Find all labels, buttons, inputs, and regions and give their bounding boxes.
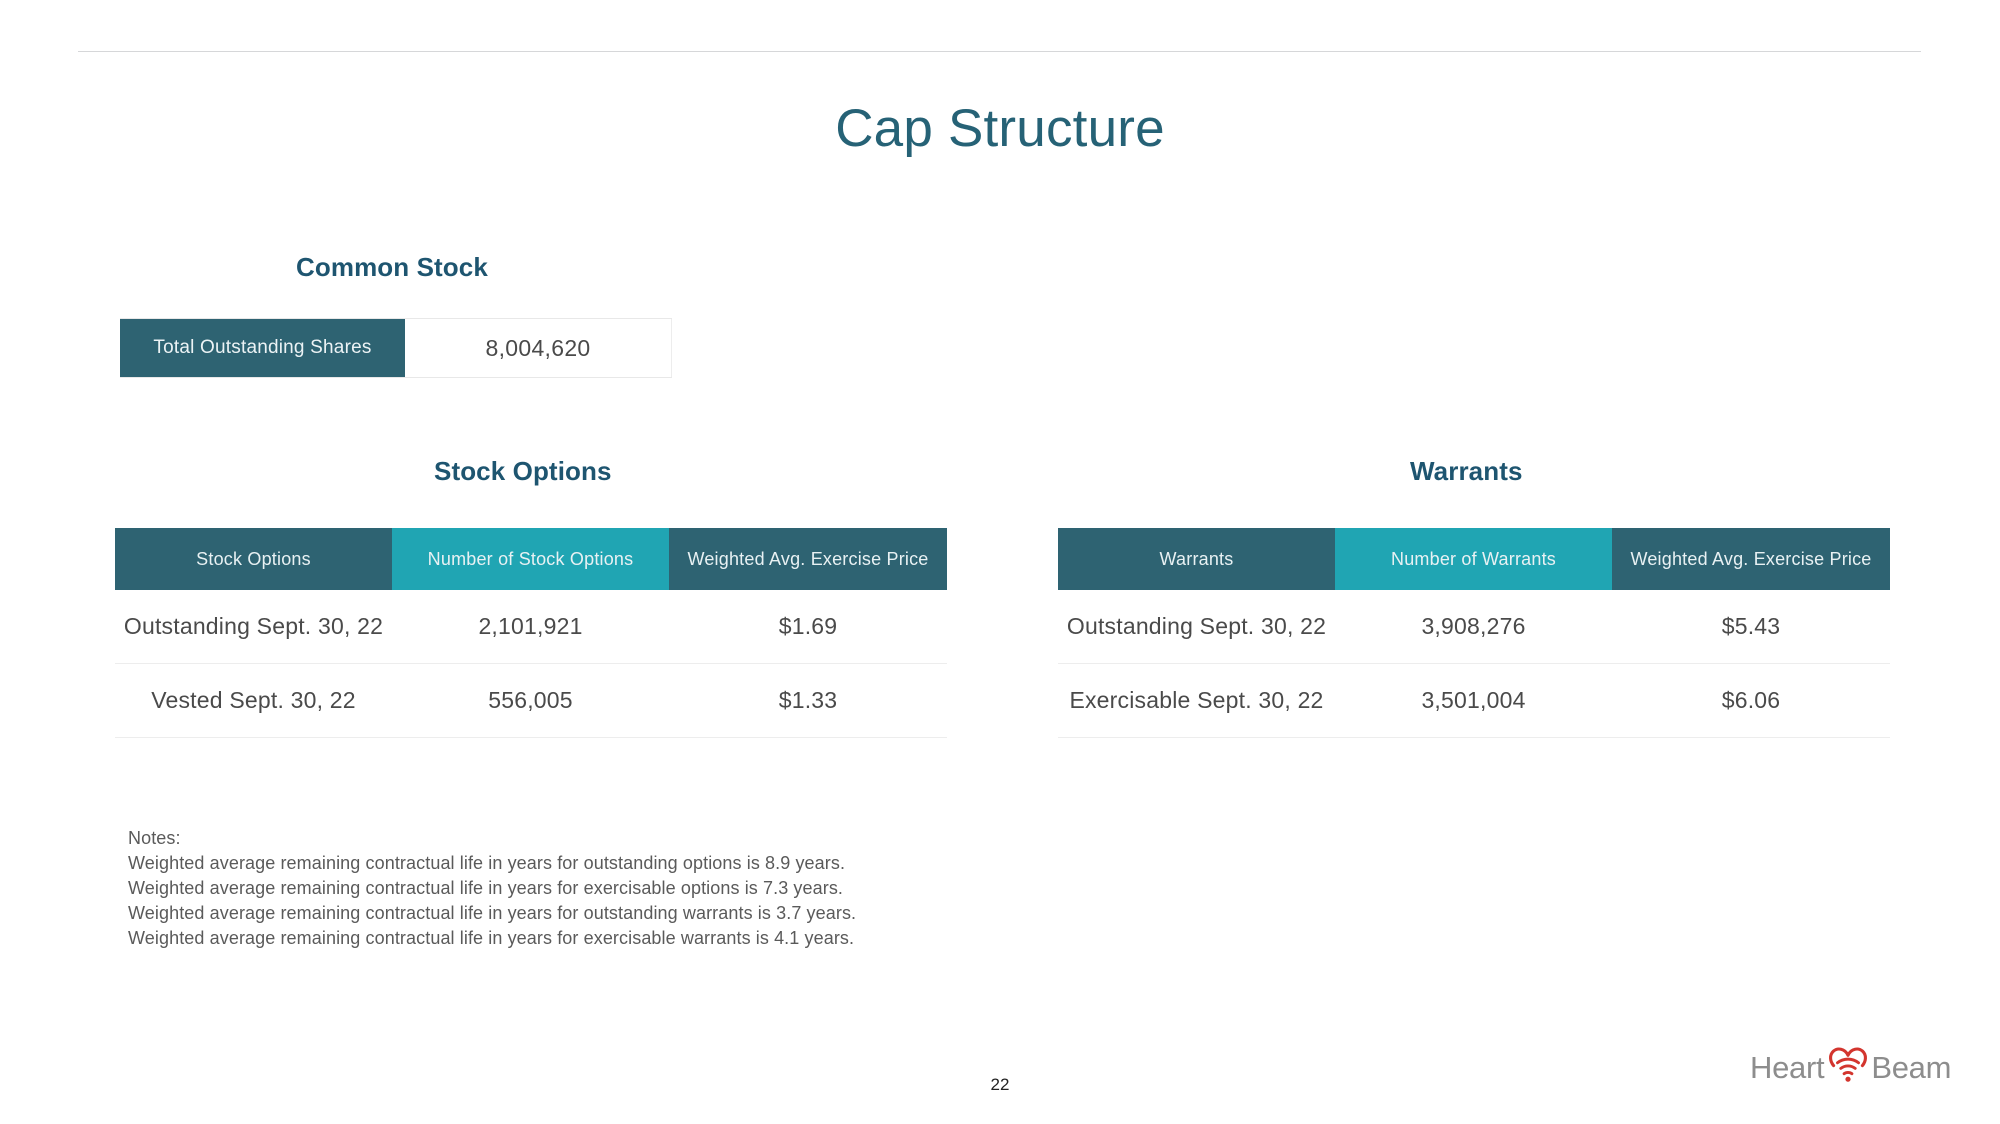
stock-options-table: Stock Options Number of Stock Options We… xyxy=(115,528,947,738)
row-number: 2,101,921 xyxy=(392,590,669,663)
column-header-number-of-warrants: Number of Warrants xyxy=(1335,528,1612,590)
section-heading-warrants: Warrants xyxy=(1410,456,1523,487)
row-label: Vested Sept. 30, 22 xyxy=(115,664,392,737)
row-label: Outstanding Sept. 30, 22 xyxy=(115,590,392,663)
table-header-row: Stock Options Number of Stock Options We… xyxy=(115,528,947,590)
common-stock-table: Total Outstanding Shares 8,004,620 xyxy=(120,318,672,378)
row-label: Exercisable Sept. 30, 22 xyxy=(1058,664,1335,737)
common-stock-value: 8,004,620 xyxy=(405,319,672,377)
warrants-table: Warrants Number of Warrants Weighted Avg… xyxy=(1058,528,1890,738)
table-row: Outstanding Sept. 30, 22 3,908,276 $5.43 xyxy=(1058,590,1890,664)
section-heading-common-stock: Common Stock xyxy=(296,252,488,283)
note-line: Weighted average remaining contractual l… xyxy=(128,901,856,926)
header-divider xyxy=(78,51,1921,52)
column-header-stock-options: Stock Options xyxy=(115,528,392,590)
row-price: $1.69 xyxy=(669,590,947,663)
section-heading-stock-options: Stock Options xyxy=(434,456,612,487)
row-number: 3,501,004 xyxy=(1335,664,1612,737)
column-header-weighted-avg-exercise-price: Weighted Avg. Exercise Price xyxy=(1612,528,1890,590)
table-row: Exercisable Sept. 30, 22 3,501,004 $6.06 xyxy=(1058,664,1890,738)
table-row: Vested Sept. 30, 22 556,005 $1.33 xyxy=(115,664,947,738)
notes-title: Notes: xyxy=(128,826,856,851)
note-line: Weighted average remaining contractual l… xyxy=(128,876,856,901)
column-header-weighted-avg-exercise-price: Weighted Avg. Exercise Price xyxy=(669,528,947,590)
heartbeam-logo: Heart Beam xyxy=(1750,1046,1951,1090)
logo-word-beam: Beam xyxy=(1871,1050,1951,1086)
logo-word-heart: Heart xyxy=(1750,1050,1824,1086)
column-header-warrants: Warrants xyxy=(1058,528,1335,590)
note-line: Weighted average remaining contractual l… xyxy=(128,926,856,951)
table-header-row: Warrants Number of Warrants Weighted Avg… xyxy=(1058,528,1890,590)
column-header-number-of-stock-options: Number of Stock Options xyxy=(392,528,669,590)
notes-block: Notes: Weighted average remaining contra… xyxy=(128,826,856,951)
page-number: 22 xyxy=(0,1075,2000,1095)
row-label: Outstanding Sept. 30, 22 xyxy=(1058,590,1335,663)
row-price: $1.33 xyxy=(669,664,947,737)
note-line: Weighted average remaining contractual l… xyxy=(128,851,856,876)
heart-wifi-icon xyxy=(1826,1046,1870,1086)
row-number: 556,005 xyxy=(392,664,669,737)
common-stock-label: Total Outstanding Shares xyxy=(120,319,405,377)
table-row: Outstanding Sept. 30, 22 2,101,921 $1.69 xyxy=(115,590,947,664)
row-price: $5.43 xyxy=(1612,590,1890,663)
row-price: $6.06 xyxy=(1612,664,1890,737)
page-title: Cap Structure xyxy=(0,98,2000,159)
row-number: 3,908,276 xyxy=(1335,590,1612,663)
